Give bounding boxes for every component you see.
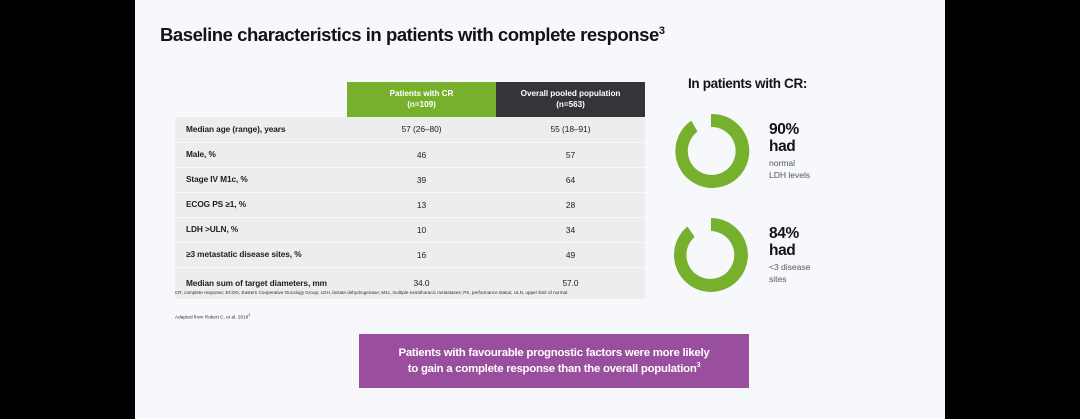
stat-description-sites-line2: sites: [769, 274, 810, 286]
row-value-pooled: 64: [496, 167, 645, 192]
stat-text-disease-sites: 84% had <3 disease sites: [769, 225, 810, 285]
row-value-cr: 46: [347, 142, 496, 167]
row-label: Male, %: [175, 142, 347, 167]
table-row: ≥3 metastatic disease sites, % 16 49: [175, 242, 645, 267]
key-message-superscript: 3: [697, 362, 701, 369]
panel-heading: In patients with CR:: [688, 76, 935, 91]
column-header-blank: [175, 82, 347, 117]
stat-block-ldh: 90% had normal LDH levels: [669, 109, 810, 193]
baseline-characteristics-table: Patients with CR (n=109) Overall pooled …: [175, 82, 645, 299]
footnote-source: Adapted from Robert C, et al. 20193: [175, 313, 653, 321]
donut-chart-icon: [669, 109, 753, 193]
stat-value-ldh: 90%: [769, 121, 810, 138]
stat-text-ldh: 90% had normal LDH levels: [769, 121, 810, 181]
table-row: Stage IV M1c, % 39 64: [175, 167, 645, 192]
row-value-pooled: 57: [496, 142, 645, 167]
stat-value-disease-sites: 84%: [769, 225, 810, 242]
row-value-pooled: 49: [496, 242, 645, 267]
column-header-pooled-label: Overall pooled population: [496, 89, 645, 100]
page-title-superscript: 3: [659, 25, 665, 37]
column-header-pooled-sublabel: (n=563): [496, 100, 645, 111]
donut-chart-icon: [669, 213, 753, 297]
row-value-cr: 39: [347, 167, 496, 192]
table-body: Median age (range), years 57 (26–80) 55 …: [175, 117, 645, 299]
stat-block-disease-sites: 84% had <3 disease sites: [669, 213, 810, 297]
table-row: Male, % 46 57: [175, 142, 645, 167]
row-label: ECOG PS ≥1, %: [175, 192, 347, 217]
row-label: Stage IV M1c, %: [175, 167, 347, 192]
footnote-abbreviations: CR, complete response; ECOG, Eastern Coo…: [175, 289, 653, 296]
cr-statistics-panel: In patients with CR: 90% had normal LDH …: [655, 76, 935, 91]
row-label: LDH >ULN, %: [175, 217, 347, 242]
row-value-cr: 10: [347, 217, 496, 242]
table-header-row: Patients with CR (n=109) Overall pooled …: [175, 82, 645, 117]
key-message-banner: Patients with favourable prognostic fact…: [359, 334, 749, 388]
column-header-cr-sublabel: (n=109): [347, 100, 496, 111]
footnote-source-text: Adapted from Robert C, et al. 2019: [175, 315, 248, 320]
row-value-pooled: 28: [496, 192, 645, 217]
stat-value-label-disease-sites: had: [769, 242, 810, 259]
key-message-text: Patients with favourable prognostic fact…: [385, 345, 724, 377]
table-row: ECOG PS ≥1, % 13 28: [175, 192, 645, 217]
table-header: Patients with CR (n=109) Overall pooled …: [175, 82, 645, 117]
row-value-cr: 13: [347, 192, 496, 217]
stat-description-disease-sites: <3 disease sites: [769, 262, 810, 285]
stat-description-ldh-line2: LDH levels: [769, 170, 810, 182]
column-header-patients-with-cr: Patients with CR (n=109): [347, 82, 496, 117]
page-title: Baseline characteristics in patients wit…: [160, 24, 665, 46]
stat-value-label-ldh: had: [769, 138, 810, 155]
row-value-pooled: 34: [496, 217, 645, 242]
column-header-cr-label: Patients with CR: [347, 89, 496, 100]
row-value-cr: 16: [347, 242, 496, 267]
page-title-text: Baseline characteristics in patients wit…: [160, 24, 659, 45]
stat-description-sites-line1: <3 disease: [769, 262, 810, 274]
footnote-source-superscript: 3: [248, 313, 250, 317]
column-header-overall-pooled-population: Overall pooled population (n=563): [496, 82, 645, 117]
stat-description-ldh: normal LDH levels: [769, 158, 810, 181]
row-label: ≥3 metastatic disease sites, %: [175, 242, 347, 267]
key-message-line1: Patients with favourable prognostic fact…: [399, 347, 710, 359]
row-label: Median age (range), years: [175, 117, 347, 142]
row-value-pooled: 55 (18–91): [496, 117, 645, 142]
slide-canvas: Baseline characteristics in patients wit…: [135, 0, 945, 419]
row-value-cr: 57 (26–80): [347, 117, 496, 142]
table-row: Median age (range), years 57 (26–80) 55 …: [175, 117, 645, 142]
table-row: LDH >ULN, % 10 34: [175, 217, 645, 242]
key-message-line2: to gain a complete response than the ove…: [408, 363, 697, 375]
stat-description-ldh-line1: normal: [769, 158, 810, 170]
